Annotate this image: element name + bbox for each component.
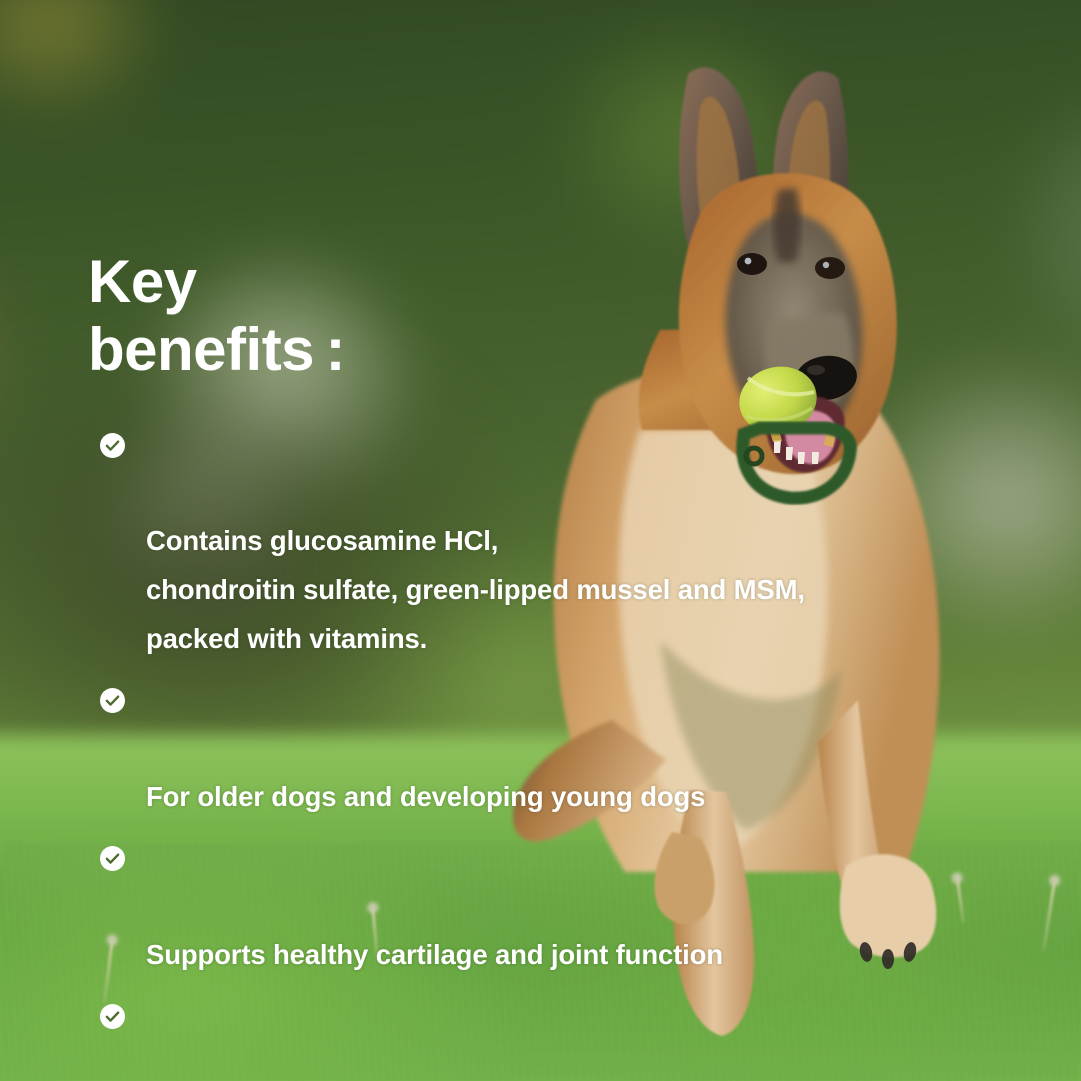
promo-image-canvas: Key benefits : Contains glucosamine HCl,… bbox=[0, 0, 1081, 1081]
page-title: Key benefits : bbox=[88, 248, 908, 384]
list-item: For older dogs and developing young dogs bbox=[88, 675, 908, 822]
benefit-text: For older dogs and developing young dogs bbox=[146, 781, 705, 812]
check-circle-icon bbox=[100, 688, 125, 713]
list-item: Contains glucosamine HCl, chondroitin su… bbox=[88, 420, 908, 665]
list-item: Supports healthy cartilage and joint fun… bbox=[88, 833, 908, 980]
text-overlay: Key benefits : Contains glucosamine HCl,… bbox=[88, 248, 908, 1081]
check-circle-icon bbox=[100, 1004, 125, 1029]
benefits-list: Contains glucosamine HCl, chondroitin su… bbox=[88, 420, 908, 1081]
check-circle-icon bbox=[100, 846, 125, 871]
list-item: Supports hip flexibility bbox=[88, 991, 908, 1081]
benefit-text: Contains glucosamine HCl, chondroitin su… bbox=[146, 525, 805, 654]
check-circle-icon bbox=[100, 433, 125, 458]
benefit-text: Supports healthy cartilage and joint fun… bbox=[146, 939, 723, 970]
